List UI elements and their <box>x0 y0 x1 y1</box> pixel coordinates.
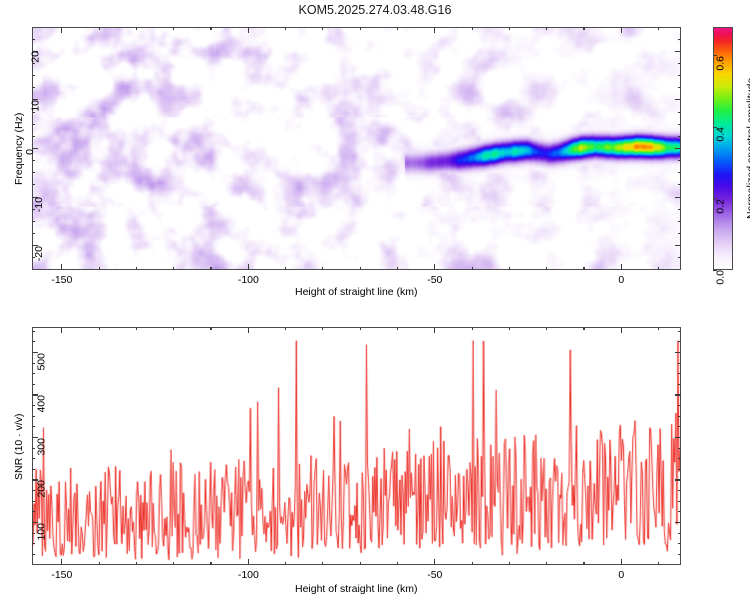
tick-mark <box>675 352 681 353</box>
tick-mark <box>32 184 35 185</box>
tick-mark <box>675 245 681 246</box>
axis-tick-label: 500 <box>36 353 48 371</box>
tick-mark <box>322 327 323 330</box>
tick-mark <box>678 458 681 459</box>
tick-mark <box>61 264 62 270</box>
axis-tick-label: -20 <box>33 246 45 261</box>
tick-mark <box>472 27 473 30</box>
tick-mark <box>583 562 584 565</box>
tick-mark <box>678 75 681 76</box>
axis-tick-label: 20 <box>30 51 42 63</box>
axis-tick-label: 0 <box>24 149 36 155</box>
tick-mark <box>285 27 286 30</box>
spectrogram-panel[interactable] <box>32 27 681 270</box>
figure-root: KOM5.2025.274.03.48.G16 -150-100-5002010… <box>0 0 750 600</box>
axis-tick-label: 400 <box>36 395 48 413</box>
tick-mark <box>678 448 681 449</box>
tick-mark <box>99 267 100 270</box>
tick-mark <box>678 416 681 417</box>
axis-tick-label: 0 <box>618 569 624 581</box>
tick-mark <box>678 39 681 40</box>
tick-mark <box>509 562 510 565</box>
tick-mark <box>32 160 35 161</box>
tick-mark <box>434 264 435 270</box>
tick-mark <box>583 267 584 270</box>
tick-mark <box>472 327 473 330</box>
tick-mark <box>32 543 35 544</box>
tick-mark <box>678 363 681 364</box>
axis-tick-label: 10 <box>30 100 42 112</box>
tick-mark <box>210 267 211 270</box>
tick-mark <box>509 267 510 270</box>
tick-mark <box>32 426 35 427</box>
tick-mark <box>32 172 35 173</box>
tick-mark <box>678 257 681 258</box>
tick-mark <box>248 264 249 270</box>
tick-mark <box>675 51 681 52</box>
tick-mark <box>32 75 35 76</box>
tick-mark <box>173 327 174 330</box>
tick-mark <box>397 327 398 330</box>
tick-mark <box>32 87 35 88</box>
axis-tick-label: 0 <box>618 274 624 286</box>
tick-mark <box>99 327 100 330</box>
axis-tick-label: -50 <box>427 274 442 286</box>
snr-y-axis-label: SNR (10 · v/v) <box>13 413 25 480</box>
tick-mark <box>285 327 286 330</box>
tick-mark <box>678 184 681 185</box>
tick-mark <box>678 384 681 385</box>
tick-mark <box>322 27 323 30</box>
tick-mark <box>675 197 681 198</box>
tick-mark <box>658 327 659 330</box>
tick-mark <box>285 562 286 565</box>
axis-tick-label: 100 <box>36 523 48 541</box>
tick-mark <box>248 327 249 333</box>
tick-mark <box>678 124 681 125</box>
tick-mark <box>32 501 35 502</box>
tick-mark <box>173 562 174 565</box>
tick-mark <box>678 63 681 64</box>
colorbar-tick-label: 0.6 <box>715 56 727 71</box>
spectrogram-x-axis-label: Height of straight line (km) <box>295 286 418 298</box>
tick-mark <box>360 27 361 30</box>
tick-mark <box>322 267 323 270</box>
page-title: KOM5.2025.274.03.48.G16 <box>0 3 750 17</box>
tick-mark <box>678 490 681 491</box>
tick-mark <box>32 458 35 459</box>
tick-mark <box>583 327 584 330</box>
tick-mark <box>658 267 659 270</box>
tick-mark <box>678 112 681 113</box>
tick-mark <box>434 559 435 565</box>
tick-mark <box>32 63 35 64</box>
tick-mark <box>678 209 681 210</box>
tick-mark <box>621 264 622 270</box>
axis-tick-label: -10 <box>33 197 45 212</box>
tick-mark <box>658 562 659 565</box>
snr-panel[interactable] <box>32 327 681 565</box>
tick-mark <box>136 27 137 30</box>
tick-mark <box>678 136 681 137</box>
tick-mark <box>678 373 681 374</box>
colorbar-tick-label: 0.2 <box>715 199 727 214</box>
tick-mark <box>397 27 398 30</box>
tick-mark <box>678 87 681 88</box>
tick-mark <box>360 562 361 565</box>
tick-mark <box>675 394 681 395</box>
spectrogram-y-axis-label: Frequency (Hz) <box>13 112 25 184</box>
tick-mark <box>32 511 35 512</box>
tick-mark <box>546 267 547 270</box>
axis-tick-label: -100 <box>238 569 259 581</box>
tick-mark <box>509 27 510 30</box>
tick-mark <box>32 39 35 40</box>
tick-mark <box>136 267 137 270</box>
tick-mark <box>397 562 398 565</box>
tick-mark <box>32 221 35 222</box>
tick-mark <box>61 27 62 33</box>
tick-mark <box>678 341 681 342</box>
tick-mark <box>61 559 62 565</box>
tick-mark <box>136 562 137 565</box>
axis-tick-label: 300 <box>36 438 48 456</box>
tick-mark <box>675 148 681 149</box>
snr-x-axis-label: Height of straight line (km) <box>295 583 418 595</box>
tick-mark <box>397 267 398 270</box>
axis-tick-label: -150 <box>51 569 72 581</box>
tick-mark <box>675 522 681 523</box>
tick-mark <box>173 267 174 270</box>
tick-mark <box>472 562 473 565</box>
spectrogram-image <box>33 28 680 269</box>
tick-mark <box>360 327 361 330</box>
tick-mark <box>360 267 361 270</box>
tick-mark <box>472 267 473 270</box>
tick-mark <box>675 479 681 480</box>
tick-mark <box>678 469 681 470</box>
tick-mark <box>678 331 681 332</box>
tick-mark <box>434 27 435 33</box>
tick-mark <box>678 221 681 222</box>
tick-mark <box>32 469 35 470</box>
tick-mark <box>621 559 622 565</box>
tick-mark <box>675 437 681 438</box>
tick-mark <box>32 384 35 385</box>
tick-mark <box>678 160 681 161</box>
tick-mark <box>621 327 622 333</box>
axis-tick-label: -100 <box>238 274 259 286</box>
tick-mark <box>32 233 35 234</box>
colorbar-tick-label: 0.0 <box>715 270 727 285</box>
tick-mark <box>678 511 681 512</box>
tick-mark <box>509 327 510 330</box>
tick-mark <box>99 562 100 565</box>
tick-mark <box>583 27 584 30</box>
tick-mark <box>678 233 681 234</box>
tick-mark <box>678 426 681 427</box>
tick-mark <box>99 27 100 30</box>
tick-mark <box>210 27 211 30</box>
tick-mark <box>658 27 659 30</box>
tick-mark <box>210 327 211 330</box>
tick-mark <box>546 562 547 565</box>
colorbar-tick-label: 0.4 <box>715 127 727 142</box>
tick-mark <box>621 27 622 33</box>
tick-mark <box>678 501 681 502</box>
tick-mark <box>434 327 435 333</box>
tick-mark <box>210 562 211 565</box>
tick-mark <box>32 341 35 342</box>
tick-mark <box>32 554 35 555</box>
tick-mark <box>678 172 681 173</box>
tick-mark <box>678 543 681 544</box>
tick-mark <box>678 533 681 534</box>
tick-mark <box>136 327 137 330</box>
tick-mark <box>322 562 323 565</box>
tick-mark <box>248 559 249 565</box>
colorbar-label: Normalized spectral amplitude <box>745 78 750 219</box>
axis-tick-label: -150 <box>51 274 72 286</box>
tick-mark <box>32 373 35 374</box>
tick-mark <box>678 554 681 555</box>
axis-tick-label: 200 <box>36 480 48 498</box>
tick-mark <box>678 405 681 406</box>
tick-mark <box>173 27 174 30</box>
tick-mark <box>675 99 681 100</box>
tick-mark <box>32 124 35 125</box>
tick-mark <box>546 327 547 330</box>
tick-mark <box>32 416 35 417</box>
axis-tick-label: -50 <box>427 569 442 581</box>
tick-mark <box>285 267 286 270</box>
tick-mark <box>61 327 62 333</box>
tick-mark <box>32 331 35 332</box>
tick-mark <box>546 27 547 30</box>
tick-mark <box>32 136 35 137</box>
tick-mark <box>248 27 249 33</box>
